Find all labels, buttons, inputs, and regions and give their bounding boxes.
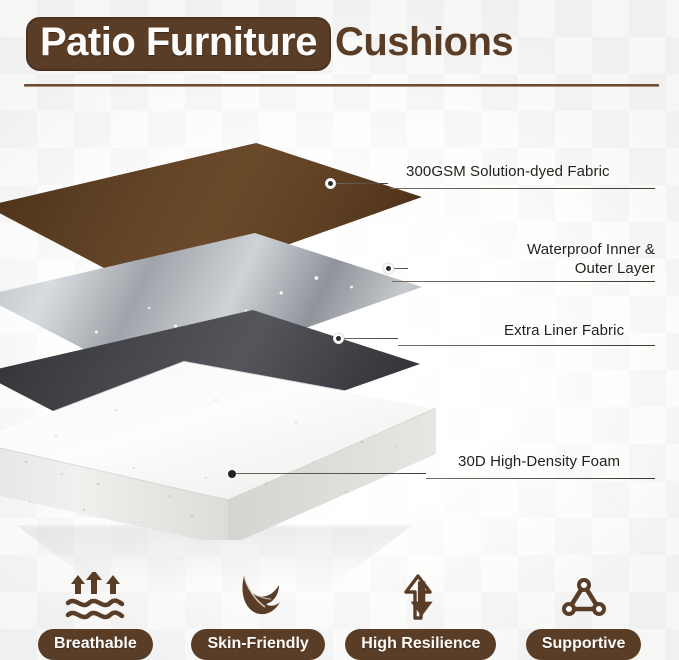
- callout-waterproof-line1: Waterproof Inner &: [527, 241, 655, 258]
- foam-block-shape: [0, 350, 446, 540]
- callout-foam-marker: [228, 470, 236, 478]
- triangle-nodes-icon: [558, 570, 610, 622]
- feature-high-resilience[interactable]: High Resilience: [346, 570, 496, 660]
- feature-breathable-label: Breathable: [38, 629, 153, 660]
- feather-icon: [227, 570, 289, 622]
- header-divider: [24, 84, 659, 87]
- feature-supportive[interactable]: Supportive: [509, 570, 659, 660]
- callout-liner-marker: [333, 333, 344, 344]
- callout-liner-underline: [398, 345, 655, 346]
- callout-liner-label: Extra Liner Fabric: [504, 321, 664, 340]
- layer-high-density-foam: [0, 350, 446, 540]
- feature-skin-friendly[interactable]: Skin-Friendly: [183, 570, 333, 660]
- feature-high-resilience-label: High Resilience: [345, 629, 496, 660]
- callout-liner-line: [344, 338, 398, 339]
- callout-fabric-underline: [390, 188, 655, 189]
- callout-waterproof-underline: [392, 281, 655, 282]
- callout-waterproof-marker: [383, 263, 394, 274]
- callout-fabric-label: 300GSM Solution-dyed Fabric: [406, 162, 656, 181]
- up-down-arrows-icon: [396, 570, 446, 622]
- exploded-layer-stack: [0, 95, 460, 555]
- header: Patio Furniture Cushions: [0, 16, 679, 88]
- infographic-canvas: Patio Furniture Cushions: [0, 0, 679, 660]
- callout-fabric-marker: [325, 178, 336, 189]
- feature-breathable[interactable]: Breathable: [20, 570, 170, 660]
- title-rest-text: Cushions: [331, 22, 513, 66]
- breathable-arrows-waves-icon: [62, 570, 128, 622]
- feature-skin-friendly-label: Skin-Friendly: [191, 629, 324, 660]
- page-title: Patio Furniture Cushions: [26, 16, 513, 72]
- callout-waterproof-label: Waterproof Inner & Outer Layer: [406, 240, 655, 278]
- feature-badge-row: Breathable Skin-Friendly High Resilience: [0, 556, 679, 660]
- callout-foam-underline: [426, 478, 655, 479]
- callout-foam-label: 30D High-Density Foam: [458, 452, 668, 471]
- feature-supportive-label: Supportive: [526, 629, 642, 660]
- callout-waterproof-line2: Outer Layer: [575, 260, 655, 277]
- title-highlight-chip: Patio Furniture: [26, 17, 331, 71]
- callout-fabric-line: [336, 183, 388, 184]
- callout-foam-line: [236, 473, 426, 474]
